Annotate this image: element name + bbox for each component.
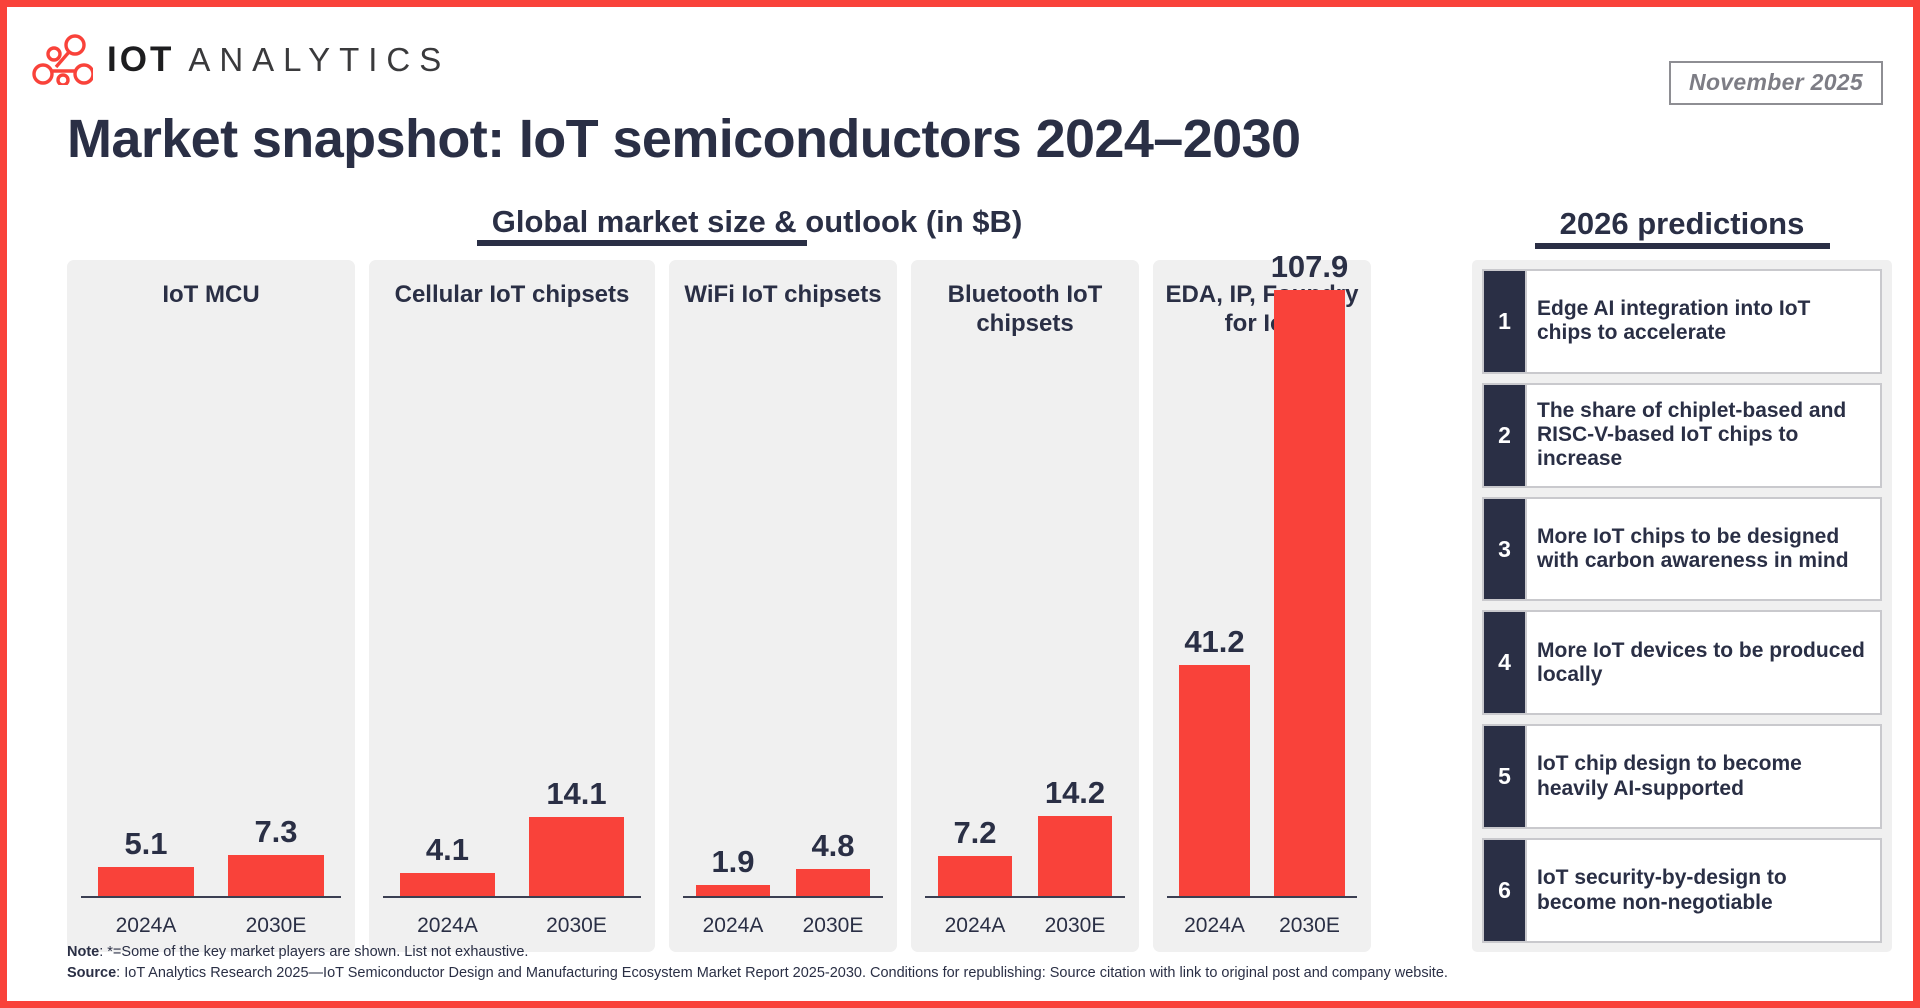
bar-value-label: 7.3 [254, 814, 297, 850]
prediction-number: 2 [1482, 383, 1527, 488]
x-axis-labels: 2024A2030E [81, 914, 341, 938]
x-axis-tick-label: 2030E [783, 914, 883, 938]
page-title: Market snapshot: IoT semiconductors 2024… [67, 111, 1300, 168]
bar-slot: 7.3 [211, 290, 341, 896]
bar-slot: 14.1 [512, 290, 641, 896]
predictions-list: 1Edge AI integration into IoT chips to a… [1472, 260, 1892, 952]
bar: 41.2 [1179, 665, 1249, 896]
x-axis-labels: 2024A2030E [383, 914, 641, 938]
bar-slot: 7.2 [925, 290, 1025, 896]
prediction-text: More IoT chips to be designed with carbo… [1527, 497, 1882, 602]
bar-slot: 5.1 [81, 290, 211, 896]
prediction-text: IoT chip design to become heavily AI-sup… [1527, 724, 1882, 829]
bar-slot: 14.2 [1025, 290, 1125, 896]
bar-slot: 1.9 [683, 290, 783, 896]
x-axis-tick-label: 2024A [1167, 914, 1262, 938]
bar: 14.1 [529, 817, 624, 896]
chart-section-heading: Global market size & outlook (in $B) [67, 205, 1447, 239]
logo-text-analytics: ANALYTICS [188, 43, 450, 76]
chart-panel: Cellular IoT chipsets4.114.12024A2030E [369, 260, 655, 952]
prediction-item[interactable]: 6IoT security-by-design to become non-ne… [1482, 838, 1882, 943]
bar-value-label: 14.2 [1045, 775, 1105, 811]
footer-notes: Note: *=Some of the key market players a… [67, 942, 1448, 986]
prediction-item[interactable]: 5IoT chip design to become heavily AI-su… [1482, 724, 1882, 829]
x-axis-tick-label: 2030E [1025, 914, 1125, 938]
bar-group: 41.2107.9 [1167, 290, 1357, 896]
x-axis-labels: 2024A2030E [925, 914, 1125, 938]
bar-value-label: 4.8 [811, 828, 854, 864]
prediction-text: IoT security-by-design to become non-neg… [1527, 838, 1882, 943]
bar-group: 5.17.3 [81, 290, 341, 896]
bar-group: 1.94.8 [683, 290, 883, 896]
bar: 5.1 [98, 867, 194, 896]
x-axis-tick-label: 2024A [81, 914, 211, 938]
predictions-heading-underline [1535, 243, 1830, 249]
x-axis-line [81, 896, 341, 898]
x-axis-labels: 2024A2030E [1167, 914, 1357, 938]
bar-slot: 107.9 [1262, 290, 1357, 896]
predictions-section-heading: 2026 predictions [1472, 207, 1892, 241]
x-axis-tick-label: 2024A [925, 914, 1025, 938]
prediction-number: 6 [1482, 838, 1527, 943]
x-axis-tick-label: 2024A [683, 914, 783, 938]
bar-slot: 4.1 [383, 290, 512, 896]
bar: 14.2 [1038, 816, 1112, 896]
x-axis-line [925, 896, 1125, 898]
x-axis-tick-label: 2030E [512, 914, 641, 938]
bar-slot: 4.8 [783, 290, 883, 896]
source-text: : IoT Analytics Research 2025—IoT Semico… [116, 965, 1448, 981]
brand-logo: IOT ANALYTICS [29, 33, 450, 85]
bar-value-label: 4.1 [426, 832, 469, 868]
chart-heading-underline [477, 240, 807, 246]
infographic-frame: IOT ANALYTICS November 2025 Market snaps… [0, 0, 1920, 1008]
note-label: Note [67, 944, 99, 960]
bar-slot: 41.2 [1167, 290, 1262, 896]
prediction-number: 1 [1482, 269, 1527, 374]
footer-source-line: Source: IoT Analytics Research 2025—IoT … [67, 963, 1448, 985]
prediction-text: The share of chiplet-based and RISC-V-ba… [1527, 383, 1882, 488]
bar: 7.2 [938, 856, 1012, 896]
bar-value-label: 41.2 [1184, 624, 1244, 660]
date-badge: November 2025 [1669, 61, 1883, 105]
x-axis-line [683, 896, 883, 898]
prediction-item[interactable]: 4More IoT devices to be produced locally [1482, 610, 1882, 715]
chart-panel-group: IoT MCU5.17.32024A2030ECellular IoT chip… [67, 260, 1454, 952]
bar-value-label: 7.2 [953, 815, 996, 851]
bar: 4.8 [796, 869, 870, 896]
x-axis-line [1167, 896, 1357, 898]
bar: 4.1 [400, 873, 495, 896]
source-label: Source [67, 965, 116, 981]
prediction-text: Edge AI integration into IoT chips to ac… [1527, 269, 1882, 374]
bar-group: 7.214.2 [925, 290, 1125, 896]
x-axis-labels: 2024A2030E [683, 914, 883, 938]
chart-panel: EDA, IP, Foundry for IoT41.2107.92024A20… [1153, 260, 1371, 952]
bar: 107.9 [1274, 290, 1344, 896]
bar-value-label: 1.9 [711, 844, 754, 880]
bar-group: 4.114.1 [383, 290, 641, 896]
chart-panel: Bluetooth IoT chipsets7.214.22024A2030E [911, 260, 1139, 952]
x-axis-tick-label: 2024A [383, 914, 512, 938]
logo-text-iot: IOT [107, 42, 174, 77]
prediction-number: 5 [1482, 724, 1527, 829]
prediction-item[interactable]: 2The share of chiplet-based and RISC-V-b… [1482, 383, 1882, 488]
chart-panel: IoT MCU5.17.32024A2030E [67, 260, 355, 952]
footer-note-line: Note: *=Some of the key market players a… [67, 942, 1448, 964]
bar-value-label: 5.1 [124, 826, 167, 862]
prediction-number: 4 [1482, 610, 1527, 715]
bar-value-label: 107.9 [1271, 249, 1349, 285]
prediction-item[interactable]: 3More IoT chips to be designed with carb… [1482, 497, 1882, 602]
x-axis-tick-label: 2030E [211, 914, 341, 938]
bar: 7.3 [228, 855, 324, 896]
note-text: : *=Some of the key market players are s… [99, 944, 528, 960]
prediction-text: More IoT devices to be produced locally [1527, 610, 1882, 715]
prediction-item[interactable]: 1Edge AI integration into IoT chips to a… [1482, 269, 1882, 374]
network-nodes-icon [29, 33, 93, 85]
chart-panel: WiFi IoT chipsets1.94.82024A2030E [669, 260, 897, 952]
bar: 1.9 [696, 885, 770, 896]
bar-value-label: 14.1 [546, 776, 606, 812]
prediction-number: 3 [1482, 497, 1527, 602]
x-axis-tick-label: 2030E [1262, 914, 1357, 938]
x-axis-line [383, 896, 641, 898]
